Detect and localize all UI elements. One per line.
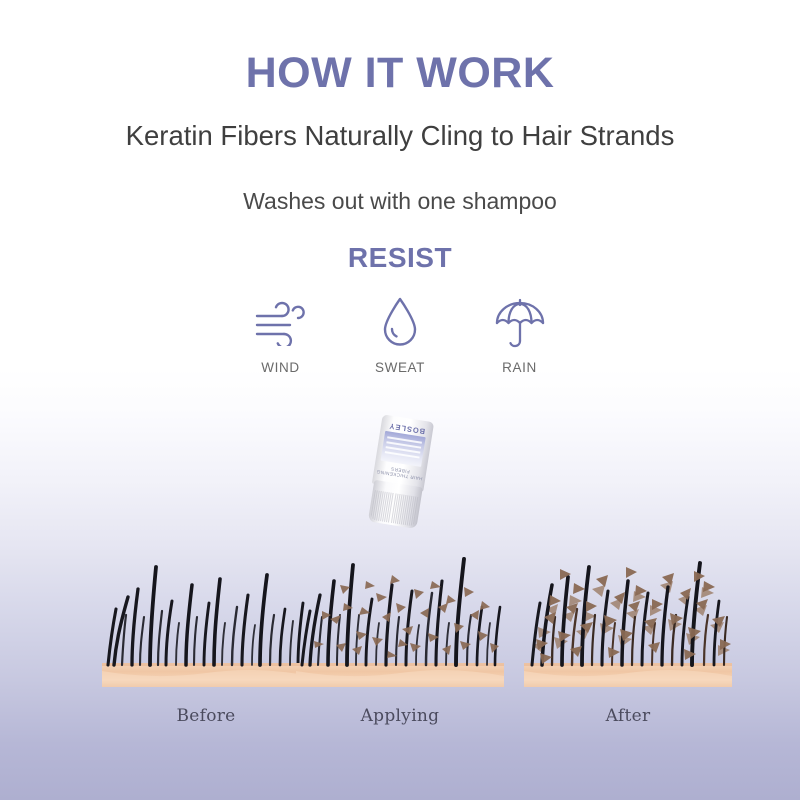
caption-after: After <box>520 706 736 726</box>
droplet-icon <box>380 292 420 354</box>
before-illustration <box>98 545 314 700</box>
panel-before <box>98 545 314 700</box>
umbrella-icon <box>494 292 546 354</box>
resist-item-label: SWEAT <box>375 360 425 375</box>
caption-applying: Applying <box>292 706 508 726</box>
page-subtitle: Keratin Fibers Naturally Cling to Hair S… <box>0 122 800 150</box>
panel-after <box>520 545 736 700</box>
resist-item-rain: RAIN <box>467 292 572 375</box>
resist-heading: RESIST <box>0 244 800 272</box>
applying-illustration <box>292 545 508 700</box>
resist-item-wind: WIND <box>228 292 333 375</box>
infographic-canvas: HOW IT WORK Keratin Fibers Naturally Cli… <box>0 0 800 800</box>
resist-item-label: WIND <box>261 360 299 375</box>
wind-icon <box>254 292 308 354</box>
after-illustration <box>520 545 736 700</box>
page-tagline: Washes out with one shampoo <box>0 190 800 213</box>
product-bottle: BOSLEY HAIR THICKENING FIBERS <box>358 413 446 531</box>
resist-icon-row: WIND SWEAT <box>228 292 572 375</box>
page-title: HOW IT WORK <box>0 52 800 95</box>
resist-item-label: RAIN <box>502 360 537 375</box>
panel-applying <box>292 545 508 700</box>
resist-item-sweat: SWEAT <box>348 292 453 375</box>
caption-before: Before <box>98 706 314 726</box>
